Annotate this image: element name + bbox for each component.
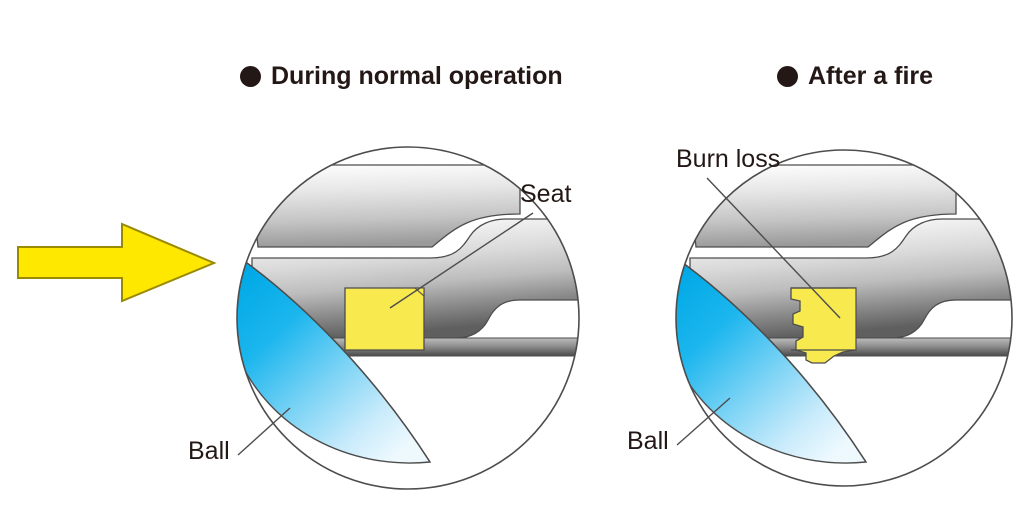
label-ball-right: Ball: [627, 427, 669, 456]
seat-left: [345, 288, 424, 350]
right-arrow-icon: [18, 224, 214, 301]
panel-title-after-fire: After a fire: [777, 62, 933, 91]
panel-title-text: After a fire: [808, 62, 933, 91]
filled-circle-bullet-icon: [777, 66, 798, 87]
label-burn-loss: Burn loss: [676, 145, 780, 174]
label-ball-left: Ball: [188, 437, 230, 466]
panel-title-normal-operation: During normal operation: [240, 62, 563, 91]
panel-title-text: During normal operation: [271, 62, 563, 91]
diagram-canvas: During normal operation After a fire Sea…: [0, 0, 1024, 509]
seat-body-right: [848, 288, 856, 350]
panel-after-fire: [670, 140, 1024, 500]
label-seat: Seat: [520, 180, 571, 209]
filled-circle-bullet-icon: [240, 66, 261, 87]
